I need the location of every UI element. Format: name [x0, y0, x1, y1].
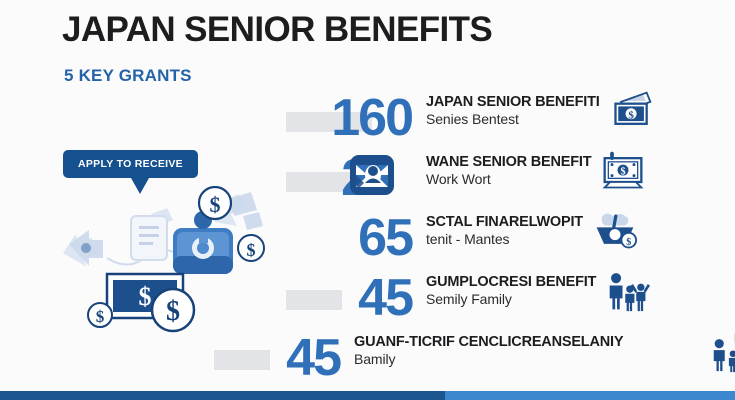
- stat-heading: GUANF-TICRIF CENCLICREANSELANIY: [354, 334, 623, 351]
- stat-number: 45: [358, 272, 412, 324]
- money-and-device-illustration: $ $ $ $ $: [55, 186, 285, 336]
- svg-text:$: $: [621, 167, 626, 178]
- bottom-bar-left-segment: [0, 391, 445, 400]
- stat-number: 45: [286, 332, 340, 384]
- stat-number: 160: [331, 92, 412, 144]
- stat-text: GUANF-TICRIF CENCLICREANSELANIY Bamily: [344, 334, 623, 368]
- stat-number-bar: [214, 350, 270, 370]
- stat-number-cell: 65: [286, 202, 416, 260]
- svg-text:$: $: [166, 296, 180, 327]
- svg-text:$: $: [210, 192, 221, 217]
- stat-row: 65 SCTAL FINARELWOPIT tenit - Mantes $: [286, 202, 639, 260]
- stat-row: 160 JAPAN SENIOR BENEFITI Senies Bentest…: [286, 82, 656, 140]
- stat-heading: GUMPLOCRESI BENEFIT: [426, 274, 596, 291]
- stat-subheading: tenit - Mantes: [426, 231, 583, 248]
- glitch-artifact-icon: [348, 153, 396, 197]
- banknote-stack-icon: $: [608, 87, 656, 135]
- bowl-coin-icon: $: [591, 207, 639, 255]
- stat-row: 45 GUANF-TICRIF CENCLICREANSELANIY Bamil…: [214, 322, 735, 380]
- page-subtitle: 5 KEY GRANTS: [64, 66, 192, 86]
- stat-text: SCTAL FINARELWOPIT tenit - Mantes: [416, 214, 583, 248]
- stat-subheading: Senies Bentest: [426, 111, 600, 128]
- svg-text:$: $: [247, 240, 256, 260]
- banknote-screen-icon: $: [599, 147, 647, 195]
- stat-row: 2 WANE SENIOR BENEFIT Work Wort $: [286, 142, 647, 200]
- page-title: JAPAN SENIOR BENEFITS: [62, 10, 492, 50]
- svg-text:$: $: [626, 237, 631, 248]
- bottom-bar-right-segment: [445, 391, 735, 400]
- stat-heading: SCTAL FINARELWOPIT: [426, 214, 583, 231]
- family-dollar-pin-icon: $: [709, 327, 735, 375]
- stat-text: GUMPLOCRESI BENEFIT Semily Family: [416, 274, 596, 308]
- svg-text:$: $: [139, 282, 152, 311]
- stat-subheading: Semily Family: [426, 291, 596, 308]
- svg-text:$: $: [628, 109, 634, 121]
- stat-number-cell: 45: [214, 322, 344, 380]
- stat-number-bar: [286, 290, 342, 310]
- stat-number-cell: 160: [286, 82, 416, 140]
- stat-subheading: Work Wort: [426, 171, 591, 188]
- apply-callout-label: APPLY TO RECEIVE: [63, 150, 198, 178]
- bottom-bar: [0, 391, 735, 400]
- stat-heading: WANE SENIOR BENEFIT: [426, 154, 591, 171]
- family-icon: [604, 267, 652, 315]
- stat-text: JAPAN SENIOR BENEFITI Senies Bentest: [416, 94, 600, 128]
- stat-number-cell: 2: [286, 142, 416, 200]
- stat-text: WANE SENIOR BENEFIT Work Wort: [416, 154, 591, 188]
- stat-heading: JAPAN SENIOR BENEFITI: [426, 94, 600, 111]
- stat-row: 45 GUMPLOCRESI BENEFIT Semily Family: [286, 262, 652, 320]
- svg-text:$: $: [96, 307, 105, 326]
- stat-subheading: Bamily: [354, 351, 623, 368]
- stat-number: 65: [358, 212, 412, 264]
- stat-number-cell: 45: [286, 262, 416, 320]
